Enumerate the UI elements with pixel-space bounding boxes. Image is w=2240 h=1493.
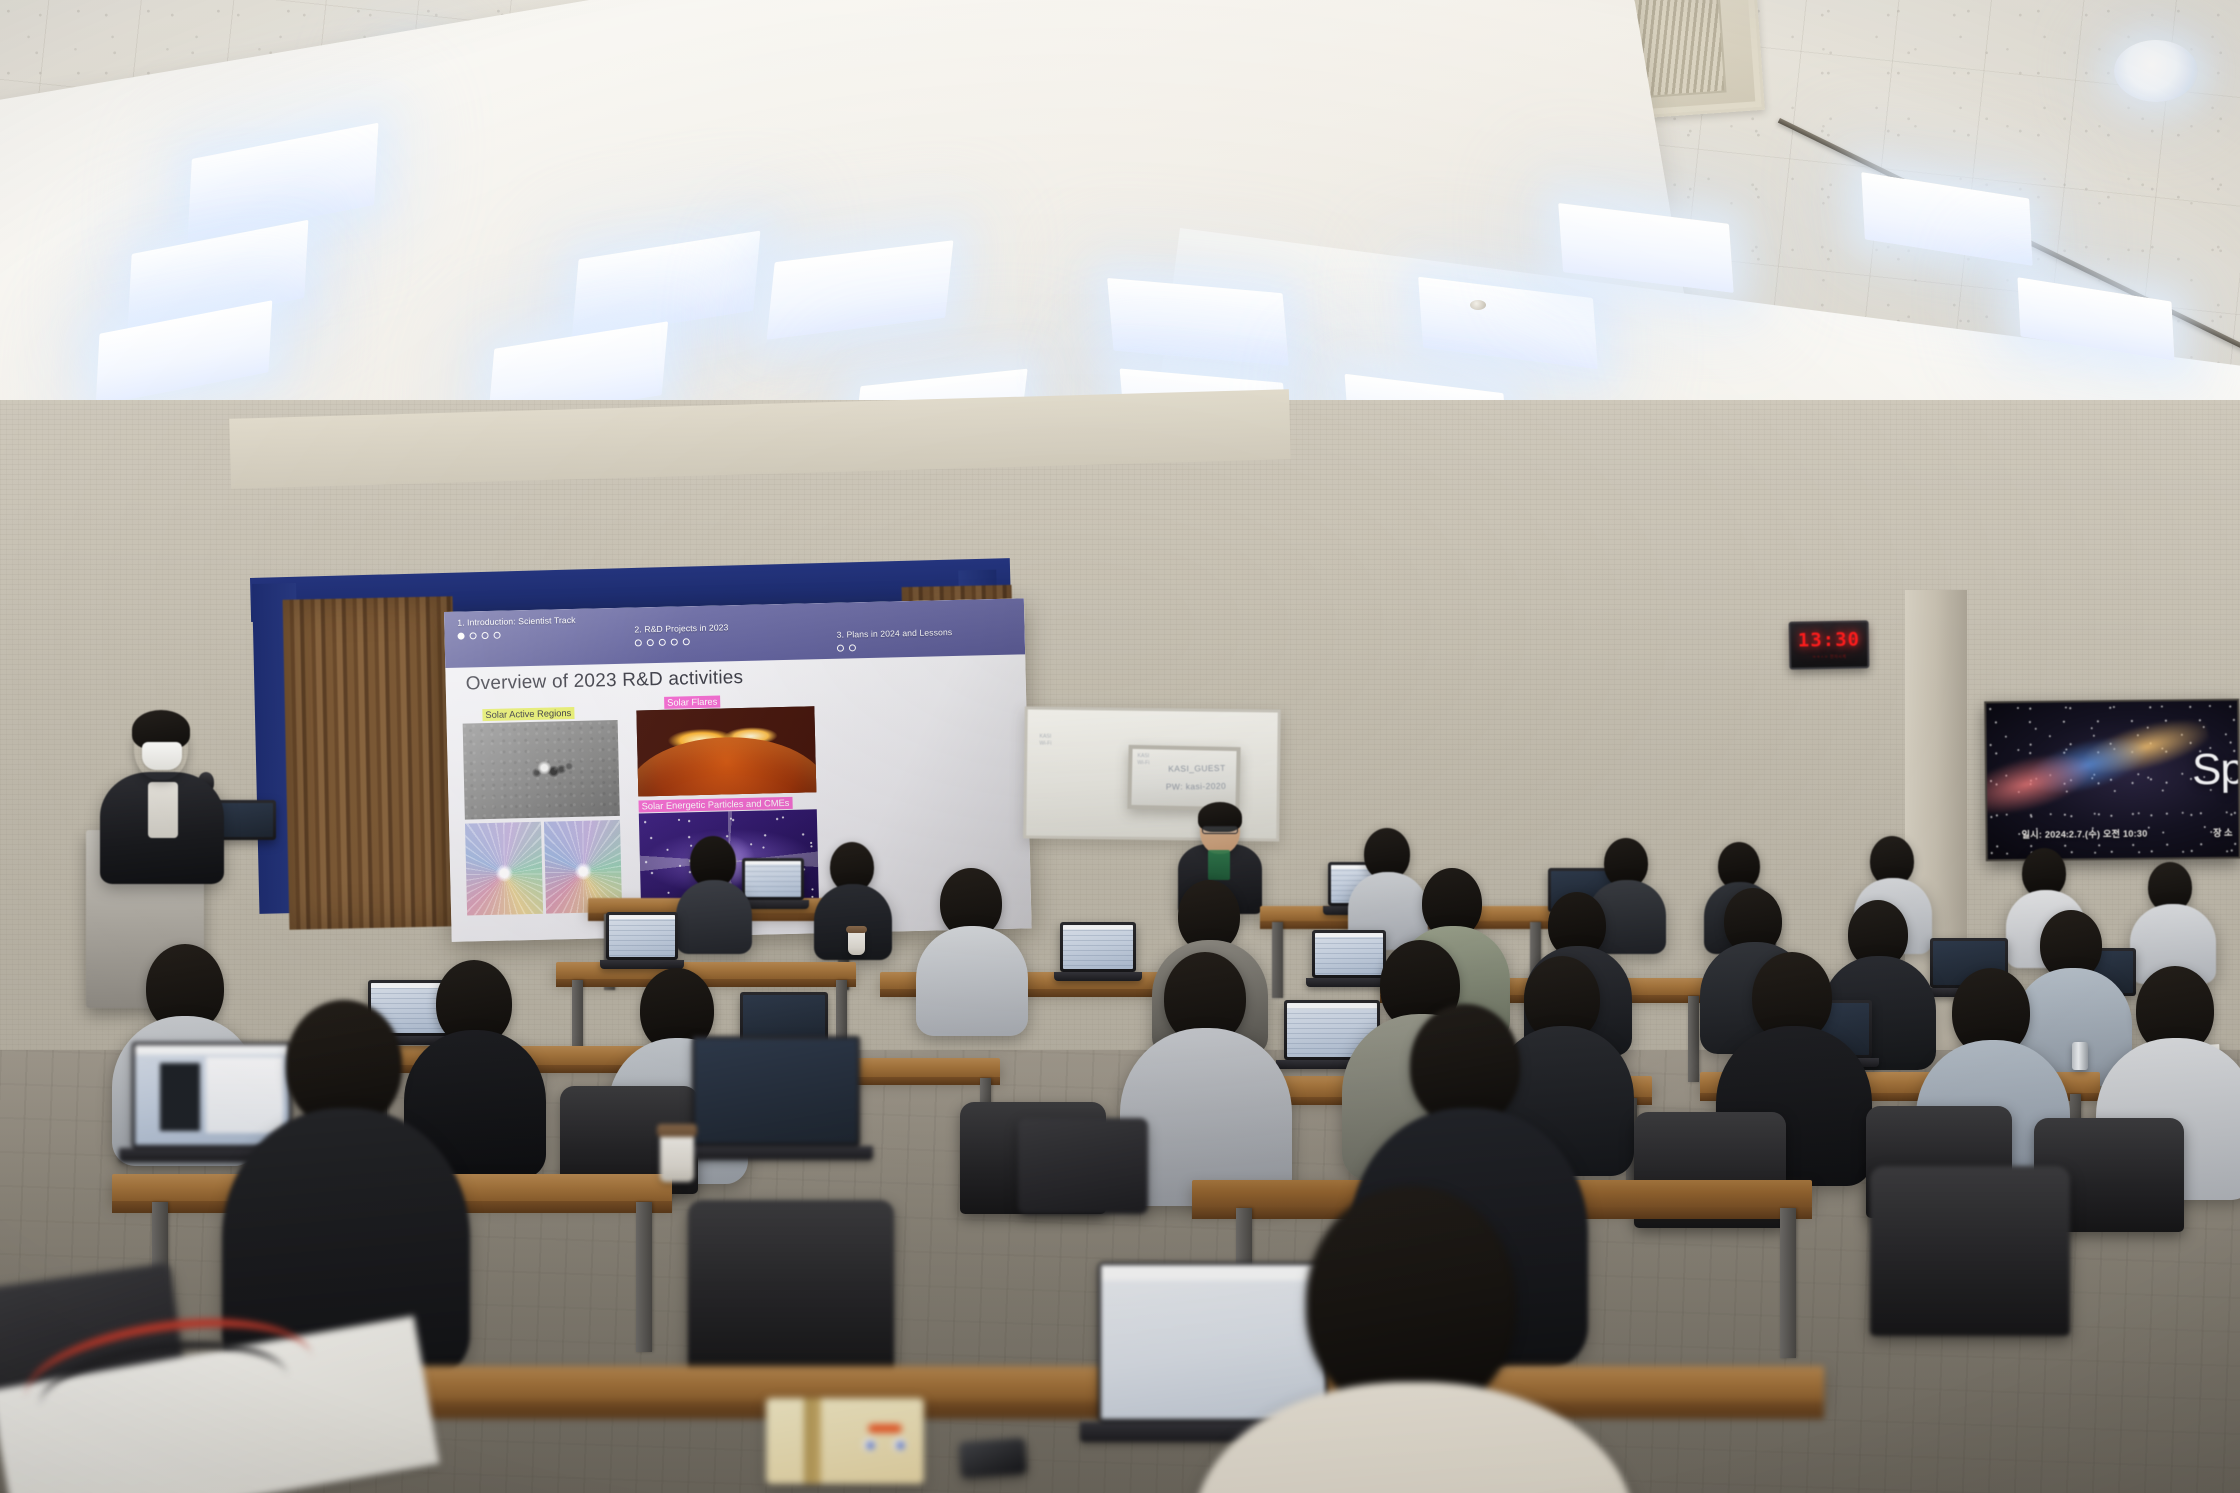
laptop-ui xyxy=(745,861,801,897)
slide-label-active-regions: Solar Active Regions xyxy=(482,707,574,721)
slide-image-active-region xyxy=(463,720,620,820)
laptop-screen xyxy=(609,915,675,957)
laptop-lid xyxy=(606,912,678,960)
laptop-ui xyxy=(1063,925,1133,969)
wifi-password-text: PW: kasi-2020 xyxy=(1166,780,1226,793)
nav-dot xyxy=(659,639,666,646)
slide-nav-dots-2 xyxy=(635,638,690,646)
sticker-eye-right-icon xyxy=(892,1437,907,1452)
nav-dot xyxy=(837,645,844,652)
nav-dot xyxy=(849,644,856,651)
smoke-detector xyxy=(1470,300,1486,310)
solar-limb xyxy=(636,735,816,796)
laptop-lid xyxy=(132,1042,292,1148)
banner-title: Sp xyxy=(2192,745,2240,796)
nav-dot xyxy=(481,632,488,639)
laptop-screen xyxy=(135,1045,289,1145)
desk-leg xyxy=(1272,922,1283,998)
clock-brand-label: ㅋㅋㅅㅇ 전자시계 xyxy=(1812,653,1846,660)
tumbler-bottle xyxy=(2072,1042,2088,1070)
wifi-ssid-text: KASI_GUEST xyxy=(1168,762,1226,775)
coffee-cup-row-b xyxy=(848,930,865,955)
sticker-mouth-icon xyxy=(868,1424,902,1433)
slide-nav-dots-3 xyxy=(837,644,856,651)
laptop-row-b-3 xyxy=(1312,930,1386,978)
laptop-lid xyxy=(692,1036,860,1146)
desk-leg xyxy=(636,1202,652,1352)
laptop-screen xyxy=(1063,925,1133,969)
nav-dot xyxy=(683,638,690,645)
slide-image-solar-flare xyxy=(636,706,816,796)
smartphone xyxy=(959,1438,1027,1479)
chair-near-2 xyxy=(1870,1166,2070,1336)
digital-wall-clock: 13:30 ㅋㅋㅅㅇ 전자시계 xyxy=(1789,620,1870,669)
presenter-shirt xyxy=(148,782,178,838)
slide-nav-dots-1 xyxy=(457,632,500,640)
laptop-row-d-left xyxy=(132,1042,292,1148)
slide-nav-section-3: 3. Plans in 2024 and Lessons xyxy=(837,627,953,640)
laptop-ui xyxy=(1101,1265,1325,1419)
notebook-face-sticker xyxy=(862,1424,910,1450)
nav-dot xyxy=(635,639,642,646)
attendee-torso xyxy=(676,880,752,954)
whiteboard-faint-note: KASI Wi-Fi xyxy=(1039,734,1051,749)
laptop-lid xyxy=(1060,922,1136,972)
laptop-screen xyxy=(745,861,801,897)
slide-label-flares: Solar Flares xyxy=(664,696,720,709)
laptop-row-d-mid xyxy=(692,1036,860,1146)
nav-dot xyxy=(493,632,500,639)
nav-dot-active xyxy=(457,633,464,640)
nav-dot xyxy=(469,632,476,639)
laptop-screen xyxy=(1101,1265,1325,1419)
cup-lid xyxy=(846,926,867,933)
laptop-editor-pane xyxy=(160,1063,200,1131)
slide-nav-section-2: 2. R&D Projects in 2023 xyxy=(634,622,728,634)
nav-dot xyxy=(671,639,678,646)
laptop-row-b-2 xyxy=(1060,922,1136,972)
wood-slat-panel-left xyxy=(283,596,460,929)
laptop-lid xyxy=(1098,1262,1328,1422)
coffee-cup-near xyxy=(660,1132,694,1182)
laptop-screen xyxy=(695,1039,857,1143)
backpack-on-floor xyxy=(1018,1118,1148,1214)
whiteboard-corner-label: KASI Wi-Fi xyxy=(1137,753,1149,768)
laptop-ui xyxy=(1315,933,1383,975)
laptop-row-a-1 xyxy=(742,858,804,900)
seminar-room-photo: 1. Introduction: Scientist Track 2. R&D … xyxy=(0,0,2240,1493)
laptop-lid xyxy=(742,858,804,900)
chair-near-1 xyxy=(688,1200,894,1376)
downlight-2 xyxy=(2114,40,2198,102)
presenter xyxy=(96,700,226,880)
clock-time: 13:30 xyxy=(1798,630,1861,650)
event-banner: Sp 일시: 2024.2.7.(수) 오전 10:30 장 소 xyxy=(1984,699,2240,862)
banner-datetime: 일시: 2024.2.7.(수) 오전 10:30 xyxy=(2021,826,2147,841)
sticker-eye-left-icon xyxy=(862,1437,877,1452)
desk-leg xyxy=(1688,996,1699,1082)
laptop-lid xyxy=(1312,930,1386,978)
lanyard xyxy=(1208,850,1230,880)
laptop-base xyxy=(1054,972,1142,981)
banner-place: 장 소 xyxy=(2213,825,2233,839)
laptop-foreground xyxy=(1098,1262,1328,1422)
face-mask-icon xyxy=(142,742,182,770)
laptop-ui xyxy=(609,915,675,957)
attendee-torso xyxy=(916,926,1028,1036)
notebook-elastic-band xyxy=(804,1398,821,1484)
slide-image-field-lines-a xyxy=(465,822,543,916)
nav-dot xyxy=(647,639,654,646)
cup-lid xyxy=(657,1124,697,1137)
image-grain xyxy=(463,720,620,820)
laptop-doc-pane xyxy=(206,1057,283,1133)
slide-title: Overview of 2023 R&D activities xyxy=(465,667,743,696)
notebook xyxy=(766,1398,924,1484)
slide-nav-section-1: 1. Introduction: Scientist Track xyxy=(457,615,576,628)
laptop-row-b-1 xyxy=(606,912,678,960)
glasses-icon xyxy=(1202,826,1238,834)
desk-leg xyxy=(1780,1208,1796,1358)
laptop-base xyxy=(679,1146,874,1160)
laptop-screen xyxy=(1315,933,1383,975)
